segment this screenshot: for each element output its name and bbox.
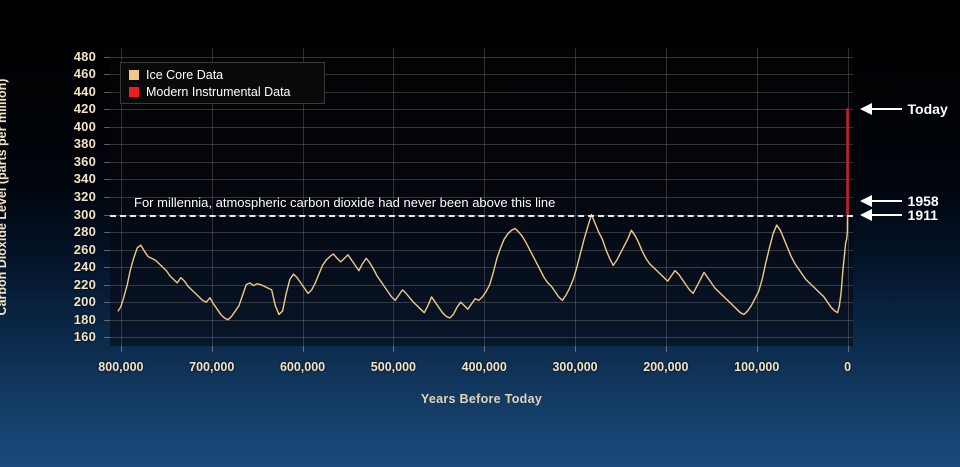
legend-item-modern: Modern Instrumental Data <box>129 84 316 99</box>
x-tick-mark <box>212 346 213 352</box>
x-tick-mark <box>757 346 758 352</box>
y-tick-label: 360 <box>0 154 96 169</box>
x-tick-mark <box>666 346 667 352</box>
y-tick-label: 420 <box>0 101 96 116</box>
y-tick-label: 480 <box>0 49 96 64</box>
y-tick-label: 200 <box>0 294 96 309</box>
x-tick-label: 400,000 <box>462 360 507 374</box>
x-tick-mark <box>121 346 122 352</box>
y-tick-label: 280 <box>0 224 96 239</box>
y-tick-label: 340 <box>0 171 96 186</box>
x-tick-mark <box>575 346 576 352</box>
legend-label-ice-core: Ice Core Data <box>146 68 223 82</box>
x-tick-label: 100,000 <box>734 360 779 374</box>
legend-label-modern: Modern Instrumental Data <box>146 85 291 99</box>
legend-item-ice-core: Ice Core Data <box>129 67 316 82</box>
legend-swatch-modern-icon <box>129 87 139 97</box>
x-tick-label: 200,000 <box>643 360 688 374</box>
x-axis-title: Years Before Today <box>110 392 853 406</box>
chart-legend: Ice Core Data Modern Instrumental Data <box>120 62 325 104</box>
left-arrow-icon <box>860 208 902 222</box>
y-tick-label: 300 <box>0 207 96 222</box>
annotation-label: 1911 <box>908 207 938 223</box>
legend-swatch-ice-core-icon <box>129 70 139 80</box>
threshold-annotation-text: For millennia, atmospheric carbon dioxid… <box>134 195 555 210</box>
y-tick-label: 320 <box>0 189 96 204</box>
x-tick-mark <box>848 346 849 352</box>
y-tick-label: 400 <box>0 119 96 134</box>
x-tick-mark <box>484 346 485 352</box>
ice-core-data-line <box>118 215 847 320</box>
annotation-label: Today <box>908 101 948 117</box>
y-tick-label: 440 <box>0 84 96 99</box>
y-tick-label: 160 <box>0 329 96 344</box>
x-tick-label: 700,000 <box>189 360 234 374</box>
y-tick-label: 180 <box>0 312 96 327</box>
threshold-dashed-line <box>110 215 853 217</box>
y-tick-label: 220 <box>0 277 96 292</box>
x-tick-label: 500,000 <box>371 360 416 374</box>
y-tick-label: 240 <box>0 259 96 274</box>
annotation-1911: 1911 <box>860 207 938 223</box>
y-tick-label: 260 <box>0 242 96 257</box>
annotation-today: Today <box>860 101 948 117</box>
x-tick-mark <box>303 346 304 352</box>
x-tick-label: 0 <box>844 360 851 374</box>
x-tick-label: 300,000 <box>552 360 597 374</box>
chart-figure: Carbon Dioxide Level (parts per million)… <box>0 0 960 467</box>
y-tick-label: 380 <box>0 136 96 151</box>
y-tick-label: 460 <box>0 66 96 81</box>
x-tick-label: 600,000 <box>280 360 325 374</box>
x-tick-mark <box>393 346 394 352</box>
x-tick-label: 800,000 <box>98 360 143 374</box>
left-arrow-icon <box>860 102 902 116</box>
